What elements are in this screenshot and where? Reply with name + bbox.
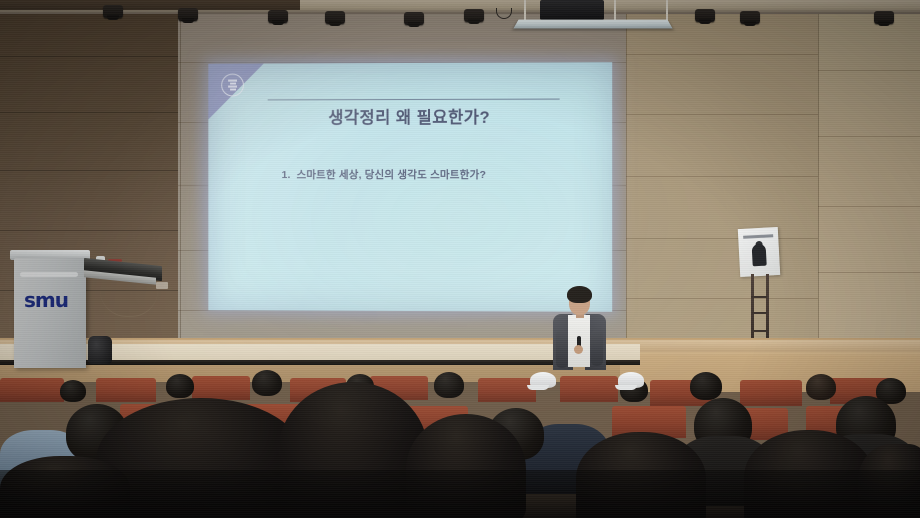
ceiling-soffit-dark bbox=[0, 0, 300, 10]
white-cap bbox=[530, 372, 556, 388]
track-spotlight-icon bbox=[103, 5, 123, 18]
wall-corner-seam bbox=[626, 10, 627, 355]
wall-corner-seam-right bbox=[818, 10, 819, 360]
wall-right-panel bbox=[626, 10, 822, 355]
slide-bullet-number: 1. bbox=[282, 169, 291, 181]
easel-crossbar bbox=[752, 312, 767, 314]
audience-head bbox=[690, 372, 722, 400]
presenter-hair bbox=[567, 286, 592, 303]
track-spotlight-icon bbox=[695, 9, 715, 22]
slide-title: 생각정리 왜 필요한가? bbox=[208, 103, 612, 128]
foreground-shadow bbox=[0, 470, 920, 518]
track-spotlight-icon bbox=[178, 8, 198, 21]
auditorium-photo: 생각정리 왜 필요한가? 1.스마트한 세상, 당신의 생각도 스마트한가? s… bbox=[0, 0, 920, 518]
wall-outlet bbox=[156, 282, 168, 289]
track-spotlight-icon bbox=[874, 11, 894, 24]
track-spotlight-icon bbox=[325, 11, 345, 24]
audience-head bbox=[60, 380, 86, 402]
slide-bullet-item: 1.스마트한 세상, 당신의 생각도 스마트한가? bbox=[282, 167, 487, 182]
seat-back bbox=[0, 378, 64, 402]
seat-back bbox=[192, 376, 250, 400]
track-spotlight-icon bbox=[464, 9, 484, 22]
poster-sign bbox=[738, 227, 780, 277]
presenter-hand bbox=[574, 345, 583, 354]
audience-head bbox=[434, 372, 464, 398]
floor-speaker bbox=[88, 336, 112, 364]
podium-logo: smu bbox=[24, 288, 68, 312]
document-lines-icon bbox=[221, 74, 244, 97]
track-spotlight-icon bbox=[740, 11, 760, 24]
seat-back bbox=[478, 378, 536, 402]
podium-lip bbox=[20, 272, 78, 277]
seat-back bbox=[740, 380, 802, 406]
track-spotlight-icon bbox=[268, 10, 288, 23]
presenter-arm-left bbox=[556, 330, 568, 368]
white-cap bbox=[618, 372, 644, 388]
easel-crossbar bbox=[751, 296, 767, 298]
track-spotlight-icon bbox=[404, 12, 424, 25]
slide-title-rule bbox=[268, 99, 560, 101]
projector-mount-plate bbox=[513, 20, 672, 29]
seat-back bbox=[96, 378, 156, 402]
wall-corner-seam-left bbox=[180, 10, 181, 340]
ceiling-projector-icon bbox=[540, 0, 604, 20]
wall-far-right-panel bbox=[818, 10, 920, 360]
person-photo-body bbox=[752, 244, 767, 267]
audience-head bbox=[806, 374, 836, 400]
slide-bullet-text: 스마트한 세상, 당신의 생각도 스마트한가? bbox=[297, 169, 487, 181]
audience-head bbox=[252, 370, 282, 396]
projection-screen: 생각정리 왜 필요한가? 1.스마트한 세상, 당신의 생각도 스마트한가? bbox=[208, 62, 612, 312]
projector-support-rod bbox=[614, 0, 616, 20]
seat-back bbox=[560, 376, 618, 402]
easel-crossbar bbox=[753, 330, 767, 332]
audience-head bbox=[166, 374, 194, 398]
presenter-arm-right bbox=[591, 330, 603, 366]
podium bbox=[14, 258, 86, 368]
poster-title-line bbox=[743, 234, 773, 239]
